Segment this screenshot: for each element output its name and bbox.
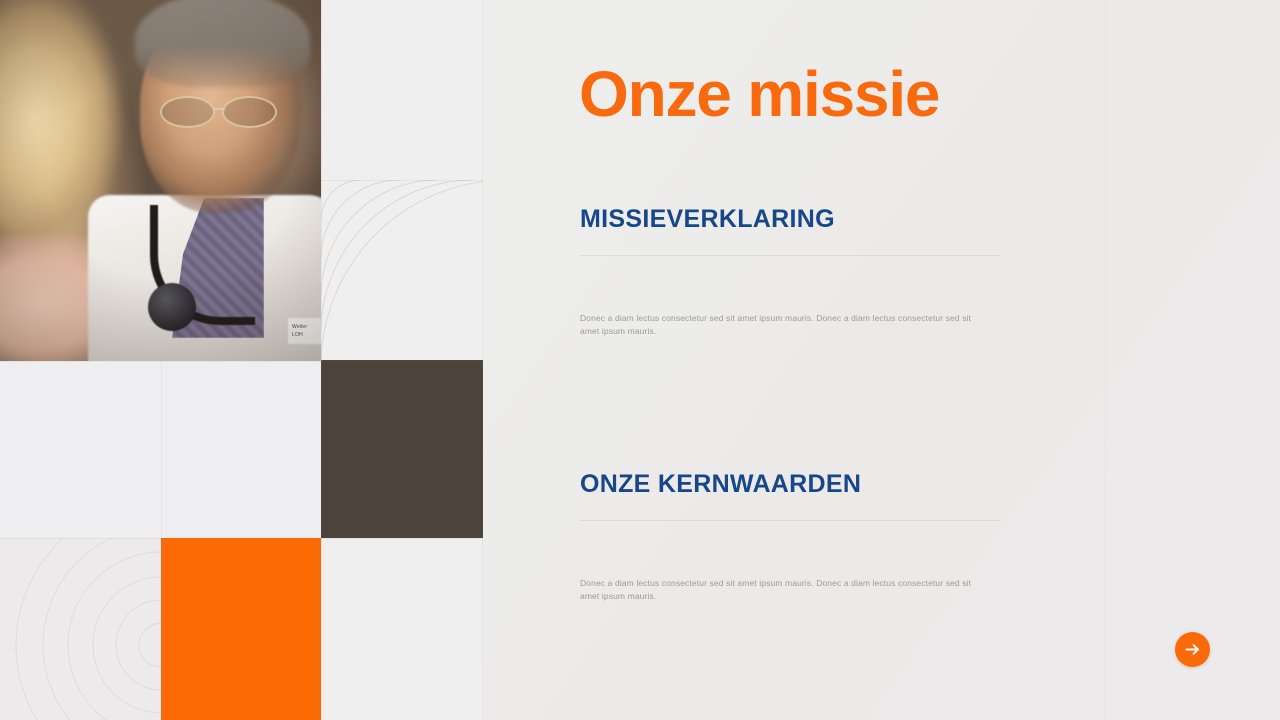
collage-panel: Weiler LOH xyxy=(0,0,483,720)
collage-tile-dark xyxy=(321,360,483,538)
section-onze-kernwaarden: ONZE KERNWAARDEN Donec a diam lectus con… xyxy=(580,471,1000,603)
collage-tile-orange xyxy=(161,538,321,720)
arrow-right-icon xyxy=(1183,640,1202,659)
section-heading: ONZE KERNWAARDEN xyxy=(580,471,1000,499)
content-panel: Onze missie MISSIEVERKLARING Donec a dia… xyxy=(483,0,1280,720)
collage-tile-r1c3 xyxy=(321,0,483,180)
collage-tile-r2c3 xyxy=(321,180,483,361)
section-heading: MISSIEVERKLARING xyxy=(580,206,1000,234)
collage-gridline-h2 xyxy=(0,538,483,539)
section-divider xyxy=(580,520,1000,521)
section-body-text: Donec a diam lectus consectetur sed sit … xyxy=(580,312,992,338)
collage-gridline-h1 xyxy=(0,361,483,362)
collage-tile-r3c1 xyxy=(0,361,161,538)
collage-tile-r4c3 xyxy=(321,538,483,720)
collage-tile-r4c1 xyxy=(0,538,161,720)
collage-tile-r3c2 xyxy=(161,361,321,538)
section-body-text: Donec a diam lectus consectetur sed sit … xyxy=(580,577,992,603)
slide-root: Weiler LOH Onze missie MISSIEVERKLARING … xyxy=(0,0,1280,720)
section-divider xyxy=(580,255,1000,256)
collage-gridline-v2 xyxy=(321,0,322,720)
next-button[interactable] xyxy=(1175,632,1210,667)
section-missieverklaring: MISSIEVERKLARING Donec a diam lectus con… xyxy=(580,206,1000,338)
page-title: Onze missie xyxy=(579,62,939,126)
panel-edge-divider xyxy=(1105,0,1106,720)
doctor-patient-photo: Weiler LOH xyxy=(0,0,321,361)
